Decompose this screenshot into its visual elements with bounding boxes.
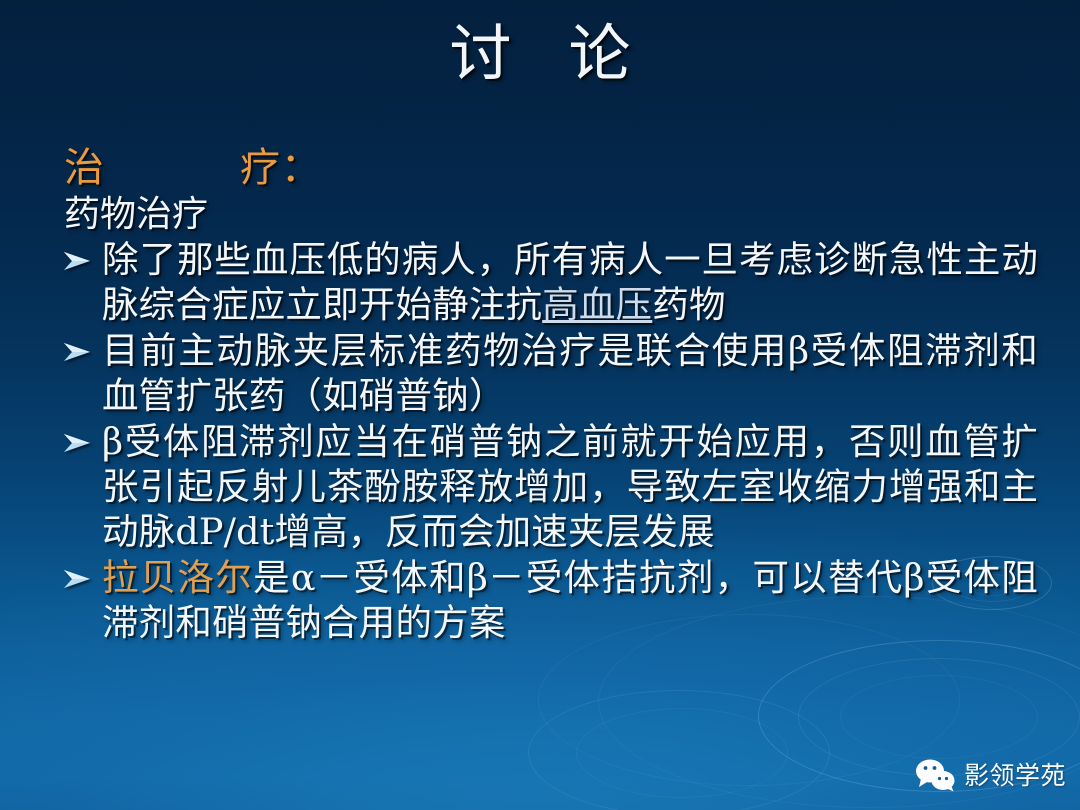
list-item: β受体阻滞剂应当在硝普钠之前就开始应用，否则血管扩张引起反射儿茶酚胺释放增加，导… [58, 419, 1038, 554]
slide-title-container: 讨 论 [0, 18, 1080, 89]
page-title: 讨 论 [431, 18, 649, 89]
watermark-logo: 影领学苑 [915, 758, 1066, 792]
bullet-text-2: 目前主动脉夹层标准药物治疗是联合使用β受体阻滞剂和血管扩张药（如硝普钠） [102, 328, 1038, 418]
slide-body: 治 疗： 药物治疗 除了那些血压低的病人，所有病人一旦考虑诊断急性主动脉综合症应… [58, 146, 1038, 646]
inline-text: β受体阻滞剂应当在硝普钠之前就开始应用，否则血管扩张引起反射儿茶酚胺释放增加，导… [102, 420, 1038, 553]
list-item: 除了那些血压低的病人，所有病人一旦考虑诊断急性主动脉综合症应立即开始静注抗高血压… [58, 237, 1038, 327]
inline-highlight: 拉贝洛尔 [102, 556, 253, 599]
list-item: 目前主动脉夹层标准药物治疗是联合使用β受体阻滞剂和血管扩张药（如硝普钠） [58, 328, 1038, 418]
list-item: 拉贝洛尔是α－受体和β－受体拮抗剂，可以替代β受体阻滞剂和硝普钠合用的方案 [58, 555, 1038, 645]
inline-text: 目前主动脉夹层标准药物治疗是联合使用β受体阻滞剂和血管扩张药（如硝普钠） [102, 329, 1038, 417]
inline-hyperlink[interactable]: 高血压 [542, 283, 652, 326]
bullet-text-4: 拉贝洛尔是α－受体和β－受体拮抗剂，可以替代β受体阻滞剂和硝普钠合用的方案 [102, 555, 1038, 645]
watermark-label: 影领学苑 [964, 763, 1066, 788]
arrow-bullet-icon [62, 249, 92, 273]
section-subheading: 治 疗： [64, 146, 1038, 191]
wechat-icon [915, 758, 955, 792]
section-lead-text: 药物治疗 [64, 195, 1038, 235]
inline-text: 药物 [652, 283, 725, 326]
arrow-bullet-icon [62, 567, 92, 591]
slide-canvas: 讨 论 治 疗： 药物治疗 除了那些血压低的病人，所有病人一旦考虑诊断急性主动脉… [0, 0, 1080, 810]
arrow-bullet-icon [62, 340, 92, 364]
bullet-text-3: β受体阻滞剂应当在硝普钠之前就开始应用，否则血管扩张引起反射儿茶酚胺释放增加，导… [102, 419, 1038, 554]
arrow-bullet-icon [62, 431, 92, 455]
bullet-text-1: 除了那些血压低的病人，所有病人一旦考虑诊断急性主动脉综合症应立即开始静注抗高血压… [102, 237, 1038, 327]
bullet-list: 除了那些血压低的病人，所有病人一旦考虑诊断急性主动脉综合症应立即开始静注抗高血压… [58, 237, 1038, 645]
